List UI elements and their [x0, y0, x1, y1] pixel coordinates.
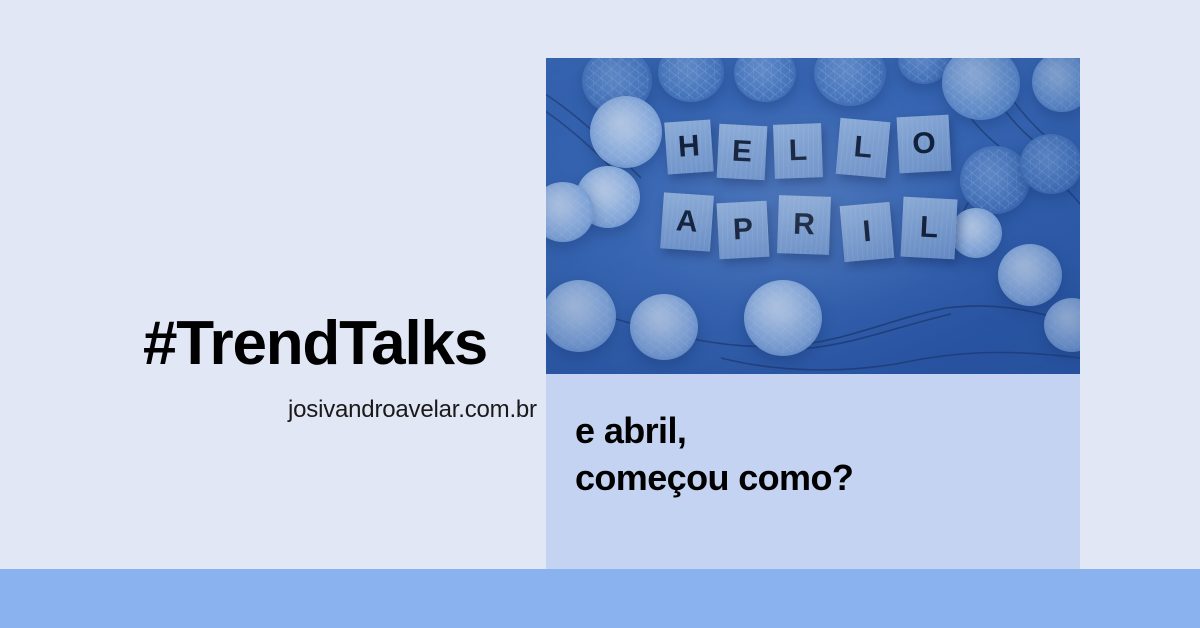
letter-tile: H — [664, 119, 714, 174]
caption-panel: e abril, começou como? — [546, 374, 1080, 569]
letter-tile-label: P — [732, 212, 754, 247]
letter-tile: E — [717, 124, 768, 180]
letter-tile: L — [836, 118, 891, 178]
cotton-ball — [590, 96, 662, 168]
cotton-ball — [744, 280, 822, 356]
bottom-accent-bar — [0, 569, 1200, 628]
cotton-ball — [630, 294, 698, 360]
letter-tile: O — [897, 115, 952, 174]
letter-tile-label: L — [788, 134, 808, 169]
hero-photo: H E L L O A P R I L — [546, 58, 1080, 374]
cotton-ball — [998, 244, 1062, 306]
letter-tile-label: E — [731, 134, 753, 169]
letter-tile-label: A — [675, 204, 699, 239]
letter-tile-label: L — [919, 211, 939, 246]
letter-tile-label: I — [861, 215, 872, 250]
letter-tile-label: H — [677, 129, 701, 164]
cotton-ball — [950, 208, 1002, 258]
social-card: #TrendTalks josivandroavelar.com.br — [0, 0, 1200, 628]
letter-tile: A — [660, 192, 714, 251]
letter-tile: I — [840, 202, 895, 262]
page-title: #TrendTalks — [143, 313, 487, 375]
cotton-ball — [960, 146, 1030, 214]
letter-tile: R — [777, 195, 831, 255]
caption-line-2: começou como? — [575, 458, 853, 498]
letter-tile-label: L — [852, 130, 873, 165]
letter-tile: P — [717, 201, 770, 260]
letter-tile: L — [773, 123, 823, 179]
letter-tile-label: R — [793, 208, 816, 243]
caption-line-1: e abril, — [575, 411, 686, 451]
letter-tile: L — [900, 197, 957, 260]
website-url: josivandroavelar.com.br — [288, 396, 537, 425]
letter-tile-label: O — [911, 126, 936, 161]
cotton-ball — [1020, 134, 1080, 194]
